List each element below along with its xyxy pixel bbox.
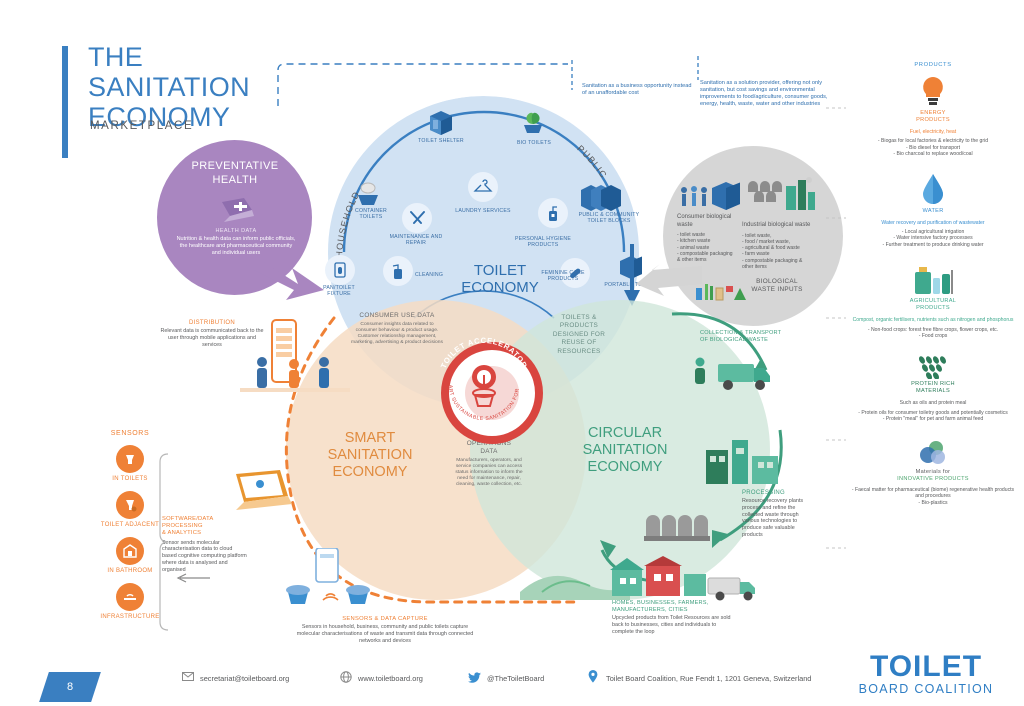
health-data-label: HEALTH DATA — [172, 228, 300, 234]
sensor-infrastructure-icon — [116, 583, 144, 611]
page-number: 8 — [39, 672, 101, 702]
node-label-public-toilet-blocks: PUBLIC & COMMUNITY TOILET BLOCKS — [578, 212, 640, 225]
factory-icon — [700, 428, 790, 490]
products-column: PRODUCTS ENERGY PRODUCTS Fuel, electrici… — [848, 62, 1018, 512]
truck-icon — [684, 352, 774, 398]
sensors-data-capture-block: SENSORS & DATA CAPTURE Sensors in househ… — [290, 616, 480, 644]
sensor-toilet-adjacent-icon — [116, 491, 144, 519]
sensors-title: SENSORS — [82, 430, 178, 437]
consumer-waste-title: Consumer biological waste — [677, 214, 735, 229]
biological-waste-inputs-title: BIOLOGICAL WASTE INPUTS — [742, 278, 812, 294]
container-toilet-icon — [352, 180, 384, 208]
product-water-list: - Local agricultural irrigation - Water … — [848, 229, 1018, 248]
twitter-icon — [468, 672, 481, 683]
distribution-block: DISTRIBUTION Relevant data is communicat… — [160, 320, 264, 348]
product-energy-list: - Biogas for local factories & electrici… — [848, 138, 1018, 157]
node-maintenance-repair[interactable] — [402, 203, 432, 233]
consumer-waste-icon — [678, 180, 744, 216]
node-label-personal-hygiene: PERSONAL HYGIENE PRODUCTS — [506, 236, 580, 249]
product-protein[interactable]: PROTEIN RICH MATERIALS Such as oils and … — [848, 355, 1018, 422]
brand-tagline: BOARD COALITION — [846, 682, 1006, 697]
node-public-toilet-blocks[interactable] — [578, 180, 626, 212]
bio-toilet-plant-icon — [516, 108, 550, 136]
node-toilet-shelter[interactable] — [424, 108, 458, 136]
product-protein-list: - Protein oils for consumer toiletry goo… — [848, 410, 1018, 423]
node-label-maintenance-repair: MAINTENANCE AND REPAIR — [380, 234, 452, 247]
brand-name: TOILET — [846, 652, 1006, 682]
collection-transport-block: COLLECTION & TRANSPORT OF BIOLOGICAL WAS… — [700, 330, 806, 344]
storage-tanks-icon — [644, 506, 712, 548]
node-laundry-services[interactable] — [468, 172, 498, 202]
footer-email[interactable]: secretariat@toiletboard.org — [200, 674, 289, 683]
sensors-capture-body: Sensors in household, business, communit… — [290, 624, 480, 644]
people-illustration — [240, 352, 350, 400]
lightbulb-icon — [916, 74, 950, 108]
product-innovative-list: - Faecal matter for pharmaceutical (biom… — [848, 487, 1018, 506]
wrench-screwdriver-icon — [408, 209, 427, 228]
product-agricultural-list: - Non-food crops: forest free fibre crop… — [848, 327, 1018, 340]
industrial-waste-title: Industrial biological waste — [742, 222, 812, 230]
industrial-waste-items: - toilet waste, - food / market waste, -… — [742, 233, 812, 271]
sensors-arrow — [172, 572, 212, 584]
processing-title: PROCESSING — [742, 490, 816, 496]
homes-businesses-block: HOMES, BUSINESSES, FARMERS, MANUFACTURER… — [612, 600, 738, 635]
footer-twitter[interactable]: @TheToiletBoard — [487, 674, 544, 683]
product-energy[interactable]: ENERGY PRODUCTS Fuel, electricity, heat … — [848, 74, 1018, 158]
toilet-economy-label: TOILET ECONOMY — [440, 262, 560, 296]
homes-businesses-body: Upcycled products from Toilet Resources … — [612, 615, 738, 635]
products-heading: PRODUCTS — [848, 62, 1018, 68]
sensor-in-toilet-icon — [116, 445, 144, 473]
annotation-solution-provider: Sanitation as a solution provider, offer… — [700, 80, 842, 108]
buildings-icon — [610, 556, 708, 604]
protein-icon — [916, 355, 950, 379]
sensors-bracket — [158, 452, 172, 632]
soap-dispenser-icon — [545, 203, 561, 223]
product-protein-lead: Such as oils and protein meal — [848, 400, 1018, 406]
laptop-icon — [222, 468, 294, 516]
product-agricultural[interactable]: AGRICULTURAL PRODUCTS Compost, organic f… — [848, 264, 1018, 339]
page-subtitle: MARKETPLACE — [90, 120, 193, 132]
product-energy-lead: Fuel, electricity, heat — [848, 129, 1018, 135]
node-container-toilets[interactable] — [352, 180, 384, 208]
industrial-waste-icon — [746, 172, 818, 220]
products-connector-lines — [826, 100, 848, 580]
node-cleaning[interactable] — [383, 256, 413, 286]
product-agricultural-lead: Compost, organic fertilisers, nutrients … — [848, 317, 1018, 323]
waste-items-icon — [694, 278, 746, 302]
title-accent-bar — [62, 46, 68, 158]
spray-bottle-icon — [390, 261, 406, 281]
location-pin-icon — [588, 670, 598, 683]
toilet-block-icon — [578, 180, 626, 212]
node-label-container-toilets: CONTAINER TOILETS — [343, 208, 399, 221]
fertiliser-icon — [911, 264, 955, 296]
node-personal-hygiene[interactable] — [538, 198, 568, 228]
footer-website[interactable]: www.toiletboard.org — [358, 674, 423, 683]
laptop-health-icon — [214, 196, 256, 226]
sensors-capture-title: SENSORS & DATA CAPTURE — [290, 616, 480, 622]
water-drop-icon — [919, 172, 947, 206]
consumer-waste-block: Consumer biological waste - toilet waste… — [677, 214, 735, 263]
footer-address: Toilet Board Coalition, Rue Fendt 1, 120… — [606, 674, 811, 683]
email-icon — [182, 672, 194, 682]
node-bio-toilets[interactable] — [516, 108, 550, 136]
health-data-body: Nutrition & health data can inform publi… — [176, 236, 296, 257]
brand-logo: TOILET BOARD COALITION — [846, 652, 1006, 697]
node-label-bio-toilets: BIO TOILETS — [499, 140, 569, 146]
product-innovative[interactable]: Materials for INNOVATIVE PRODUCTS - Faec… — [848, 439, 1018, 506]
node-label-toilet-shelter: TOILET SHELTER — [404, 138, 478, 144]
node-label-laundry-services: LAUNDRY SERVICES — [452, 208, 514, 214]
processing-body: Resource recovery plants process and ref… — [742, 498, 816, 539]
industrial-waste-block: Industrial biological waste - toilet was… — [742, 222, 812, 270]
globe-icon — [340, 671, 352, 683]
product-water-lead: Water recovery and purification of waste… — [848, 220, 1018, 226]
health-title: PREVENTATIVE HEALTH — [170, 160, 300, 187]
distribution-title: DISTRIBUTION — [160, 320, 264, 326]
product-water[interactable]: WATER Water recovery and purification of… — [848, 172, 1018, 249]
homes-businesses-title: HOMES, BUSINESSES, FARMERS, MANUFACTURER… — [612, 600, 738, 614]
connected-toilets-icon — [282, 548, 398, 610]
sensor-in-bathroom-icon — [116, 537, 144, 565]
hanger-icon — [473, 179, 493, 195]
venn-circles-icon — [917, 439, 949, 467]
consumer-waste-items: - toilet waste - kitchen waste - animal … — [677, 232, 735, 263]
toilet-shelter-icon — [424, 108, 458, 136]
processing-block: PROCESSING Resource recovery plants proc… — [742, 490, 816, 539]
distribution-body: Relevant data is communicated back to th… — [160, 328, 264, 348]
